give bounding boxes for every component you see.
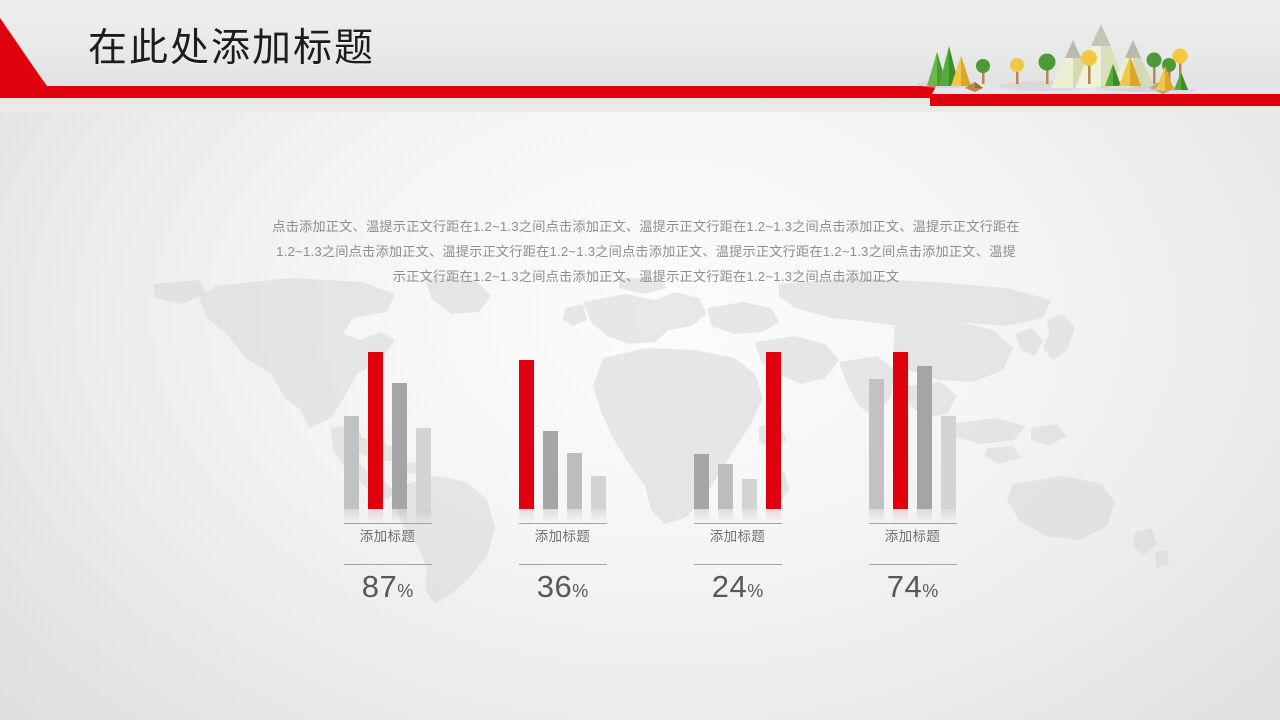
percent-number: 87 <box>362 569 397 604</box>
chart-group-3: 添加标题 24% <box>650 352 825 602</box>
bar-3 <box>392 383 407 509</box>
percent-symbol: % <box>747 581 763 601</box>
page-title: 在此处添加标题 <box>88 24 375 73</box>
percent-symbol: % <box>572 581 588 601</box>
divider-bottom <box>519 564 607 565</box>
bar-2 <box>543 431 558 510</box>
percent-symbol: % <box>397 581 413 601</box>
bar-4 <box>941 416 956 509</box>
divider-bottom <box>869 564 957 565</box>
group-label: 添加标题 <box>360 524 416 550</box>
bar-4 <box>416 428 431 510</box>
bar-set-3 <box>694 352 782 509</box>
percent-symbol: % <box>922 581 938 601</box>
percent-value: 87% <box>362 571 414 602</box>
chart-group-4: 添加标题 74% <box>825 352 1000 602</box>
percent-number: 24 <box>712 569 747 604</box>
group-label: 添加标题 <box>885 524 941 550</box>
divider-bottom <box>344 564 432 565</box>
bar-3 <box>567 453 582 510</box>
percent-value: 74% <box>887 571 939 602</box>
low-poly-trees-far-right-icon <box>1148 46 1208 96</box>
bar-3 <box>917 366 932 509</box>
bar-4 <box>591 476 606 509</box>
percent-number: 36 <box>537 569 572 604</box>
bar-4-highlight <box>766 352 781 509</box>
slide-canvas: 在此处添加标题 点击添加正文、温提示正文行距在1.2~1.3之间点击添加正文、温… <box>0 0 1280 720</box>
percent-value: 36% <box>537 571 589 602</box>
bar-3 <box>742 479 757 509</box>
bar-1 <box>694 454 709 509</box>
divider-bottom <box>694 564 782 565</box>
red-wedge-shape-2 <box>0 18 48 88</box>
bar-1 <box>869 379 884 510</box>
bar-1-highlight <box>519 360 534 509</box>
body-paragraph: 点击添加正文、温提示正文行距在1.2~1.3之间点击添加正文、温提示正文行距在1… <box>272 214 1020 289</box>
group-label: 添加标题 <box>710 524 766 550</box>
bar-set-4 <box>869 352 957 509</box>
bar-chart: 添加标题 87% 添加标题 36% <box>300 352 1000 602</box>
bar-2-highlight <box>893 352 908 509</box>
bar-set-2 <box>519 352 607 509</box>
red-bar-left <box>0 86 918 98</box>
bar-1 <box>344 416 359 509</box>
group-label: 添加标题 <box>535 524 591 550</box>
bar-2-highlight <box>368 352 383 509</box>
bar-2 <box>718 464 733 510</box>
percent-number: 74 <box>887 569 922 604</box>
chart-group-1: 添加标题 87% <box>300 352 475 602</box>
percent-value: 24% <box>712 571 764 602</box>
bar-set-1 <box>344 352 432 509</box>
chart-group-2: 添加标题 36% <box>475 352 650 602</box>
header-band: 在此处添加标题 <box>0 0 1280 112</box>
